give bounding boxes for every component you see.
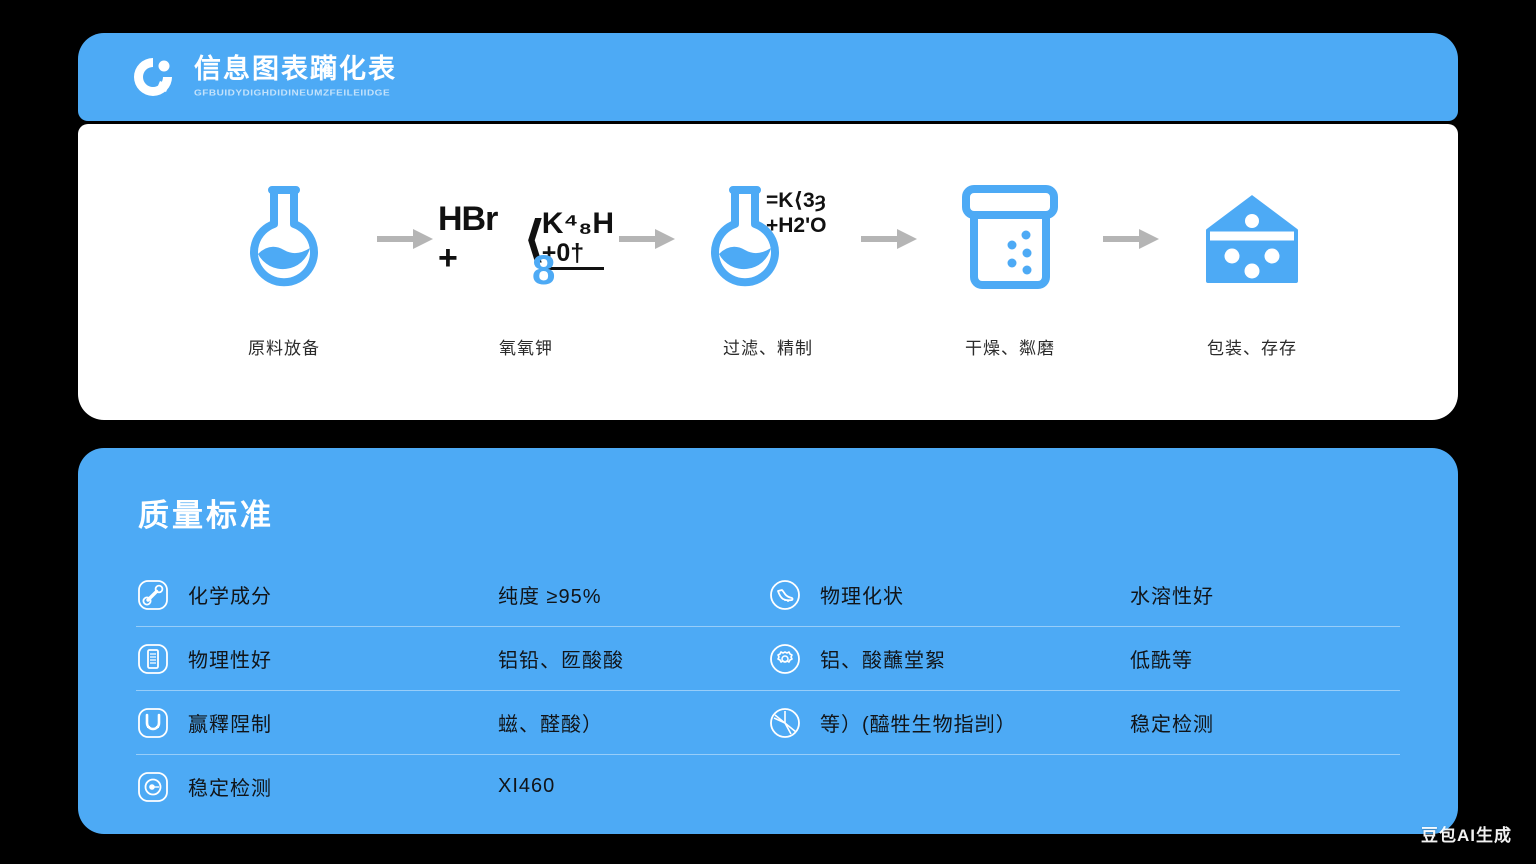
process-step-label: 干燥、粼磨 (965, 334, 1055, 359)
flask-side-formula-line1: =K⟨3ȝ (766, 188, 826, 213)
document-list-rounded-icon (136, 642, 170, 676)
warehouse-storage-icon (1164, 174, 1340, 304)
round-bottom-flask-icon (196, 174, 372, 304)
standard-value: 螆、醛酸） (498, 708, 603, 737)
standard-value: 纯度 ≥95% (498, 580, 602, 609)
chemical-equation-icon: HBr + ⟨ K⁴₈H +0† 8 (438, 174, 614, 304)
table-cell-right: 等）(醯牲生物指剀） 稳定检测 (768, 691, 1400, 754)
target-rounded-icon (136, 770, 170, 804)
standard-name: 等）(醯牲生物指剀） (820, 708, 1130, 737)
standard-value: 铝铅、匢酸酸 (498, 644, 624, 673)
pie-chart-circle-icon (768, 706, 802, 740)
circular-c-logo-icon (130, 54, 176, 100)
table-cell-left: 物理性好 铝铅、匢酸酸 (136, 627, 768, 690)
watermark: 豆包AI生成 (1421, 821, 1512, 846)
chemical-formula: HBr + ⟨ K⁴₈H +0† 8 (438, 174, 614, 304)
standard-value: XI460 (498, 775, 555, 798)
table-cell-right: 物理化状 水溶性好 (768, 563, 1400, 626)
process-flow-card: 原料放备 HBr + ⟨ K⁴₈H +0† 8 氧氧钾 (78, 124, 1458, 420)
header-card: 信息图表躏化表 GFBUIDYDIGHDIDINEUMZFEILEIIDGE (78, 33, 1458, 121)
table-row: 物理性好 铝铅、匢酸酸 铝、酸蘸堂絮 低酰等 (136, 627, 1400, 691)
arrow-right-icon (372, 174, 438, 304)
standard-name: 化学成分 (188, 580, 498, 609)
standard-value: 低酰等 (1130, 644, 1193, 673)
beaker-with-lid-icon (922, 174, 1098, 304)
process-step-label: 氧氧钾 (499, 334, 553, 359)
formula-numeral: 8 (532, 246, 555, 294)
process-step: 干燥、粼磨 (922, 174, 1098, 359)
formula-rhs-top: K⁴₈H (542, 208, 614, 240)
quality-standards-title: 质量标准 (138, 490, 1400, 535)
process-step: 原料放备 (196, 174, 372, 359)
quality-standards-card: 质量标准 化学成分 纯度 ≥95% (78, 448, 1458, 834)
test-tube-rounded-icon (136, 578, 170, 612)
process-flow-row: 原料放备 HBr + ⟨ K⁴₈H +0† 8 氧氧钾 (78, 174, 1458, 359)
process-step: 包装、存存 (1164, 174, 1340, 359)
magnet-rounded-icon (136, 706, 170, 740)
formula-lhs: HBr + (438, 200, 521, 278)
process-step: HBr + ⟨ K⁴₈H +0† 8 氧氧钾 (438, 174, 614, 359)
arrow-right-icon (1098, 174, 1164, 304)
standard-name: 赢釋陧制 (188, 708, 498, 737)
process-step-label: 过滤、精制 (723, 334, 813, 359)
standard-name: 铝、酸蘸堂絮 (820, 644, 1130, 673)
shoe-circle-icon (768, 578, 802, 612)
standard-value: 稳定检测 (1130, 708, 1214, 737)
process-step: =K⟨3ȝ +H2'O 过滤、精制 (680, 174, 856, 359)
standard-value: 水溶性好 (1130, 580, 1214, 609)
quality-standards-table: 化学成分 纯度 ≥95% 物理化状 水溶性好 (136, 563, 1400, 818)
standard-name: 稳定检测 (188, 772, 498, 801)
arrow-right-icon (856, 174, 922, 304)
round-bottom-flask-icon: =K⟨3ȝ +H2'O (680, 174, 856, 304)
page-title: 信息图表躏化表 (194, 55, 397, 85)
arrow-right-icon (614, 174, 680, 304)
process-step-label: 原料放备 (248, 334, 320, 359)
flask-side-formula: =K⟨3ȝ +H2'O (766, 188, 826, 238)
table-row: 赢釋陧制 螆、醛酸） 等）(醯牲生物指剀） 稳定检测 (136, 691, 1400, 755)
table-row: 稳定检测 XI460 (136, 755, 1400, 818)
table-cell-left: 稳定检测 XI460 (136, 755, 768, 818)
flask-side-formula-line2: +H2'O (766, 213, 826, 238)
page-subtitle: GFBUIDYDIGHDIDINEUMZFEILEIIDGE (194, 89, 397, 98)
process-step-label: 包装、存存 (1207, 334, 1297, 359)
table-cell-left: 赢釋陧制 螆、醛酸） (136, 691, 768, 754)
standard-name: 物理性好 (188, 644, 498, 673)
brand-text: 信息图表躏化表 GFBUIDYDIGHDIDINEUMZFEILEIIDGE (194, 55, 397, 99)
table-row: 化学成分 纯度 ≥95% 物理化状 水溶性好 (136, 563, 1400, 627)
table-cell-left: 化学成分 纯度 ≥95% (136, 563, 768, 626)
standard-name: 物理化状 (820, 580, 1130, 609)
table-cell-right: 铝、酸蘸堂絮 低酰等 (768, 627, 1400, 690)
gear-circle-icon (768, 642, 802, 676)
